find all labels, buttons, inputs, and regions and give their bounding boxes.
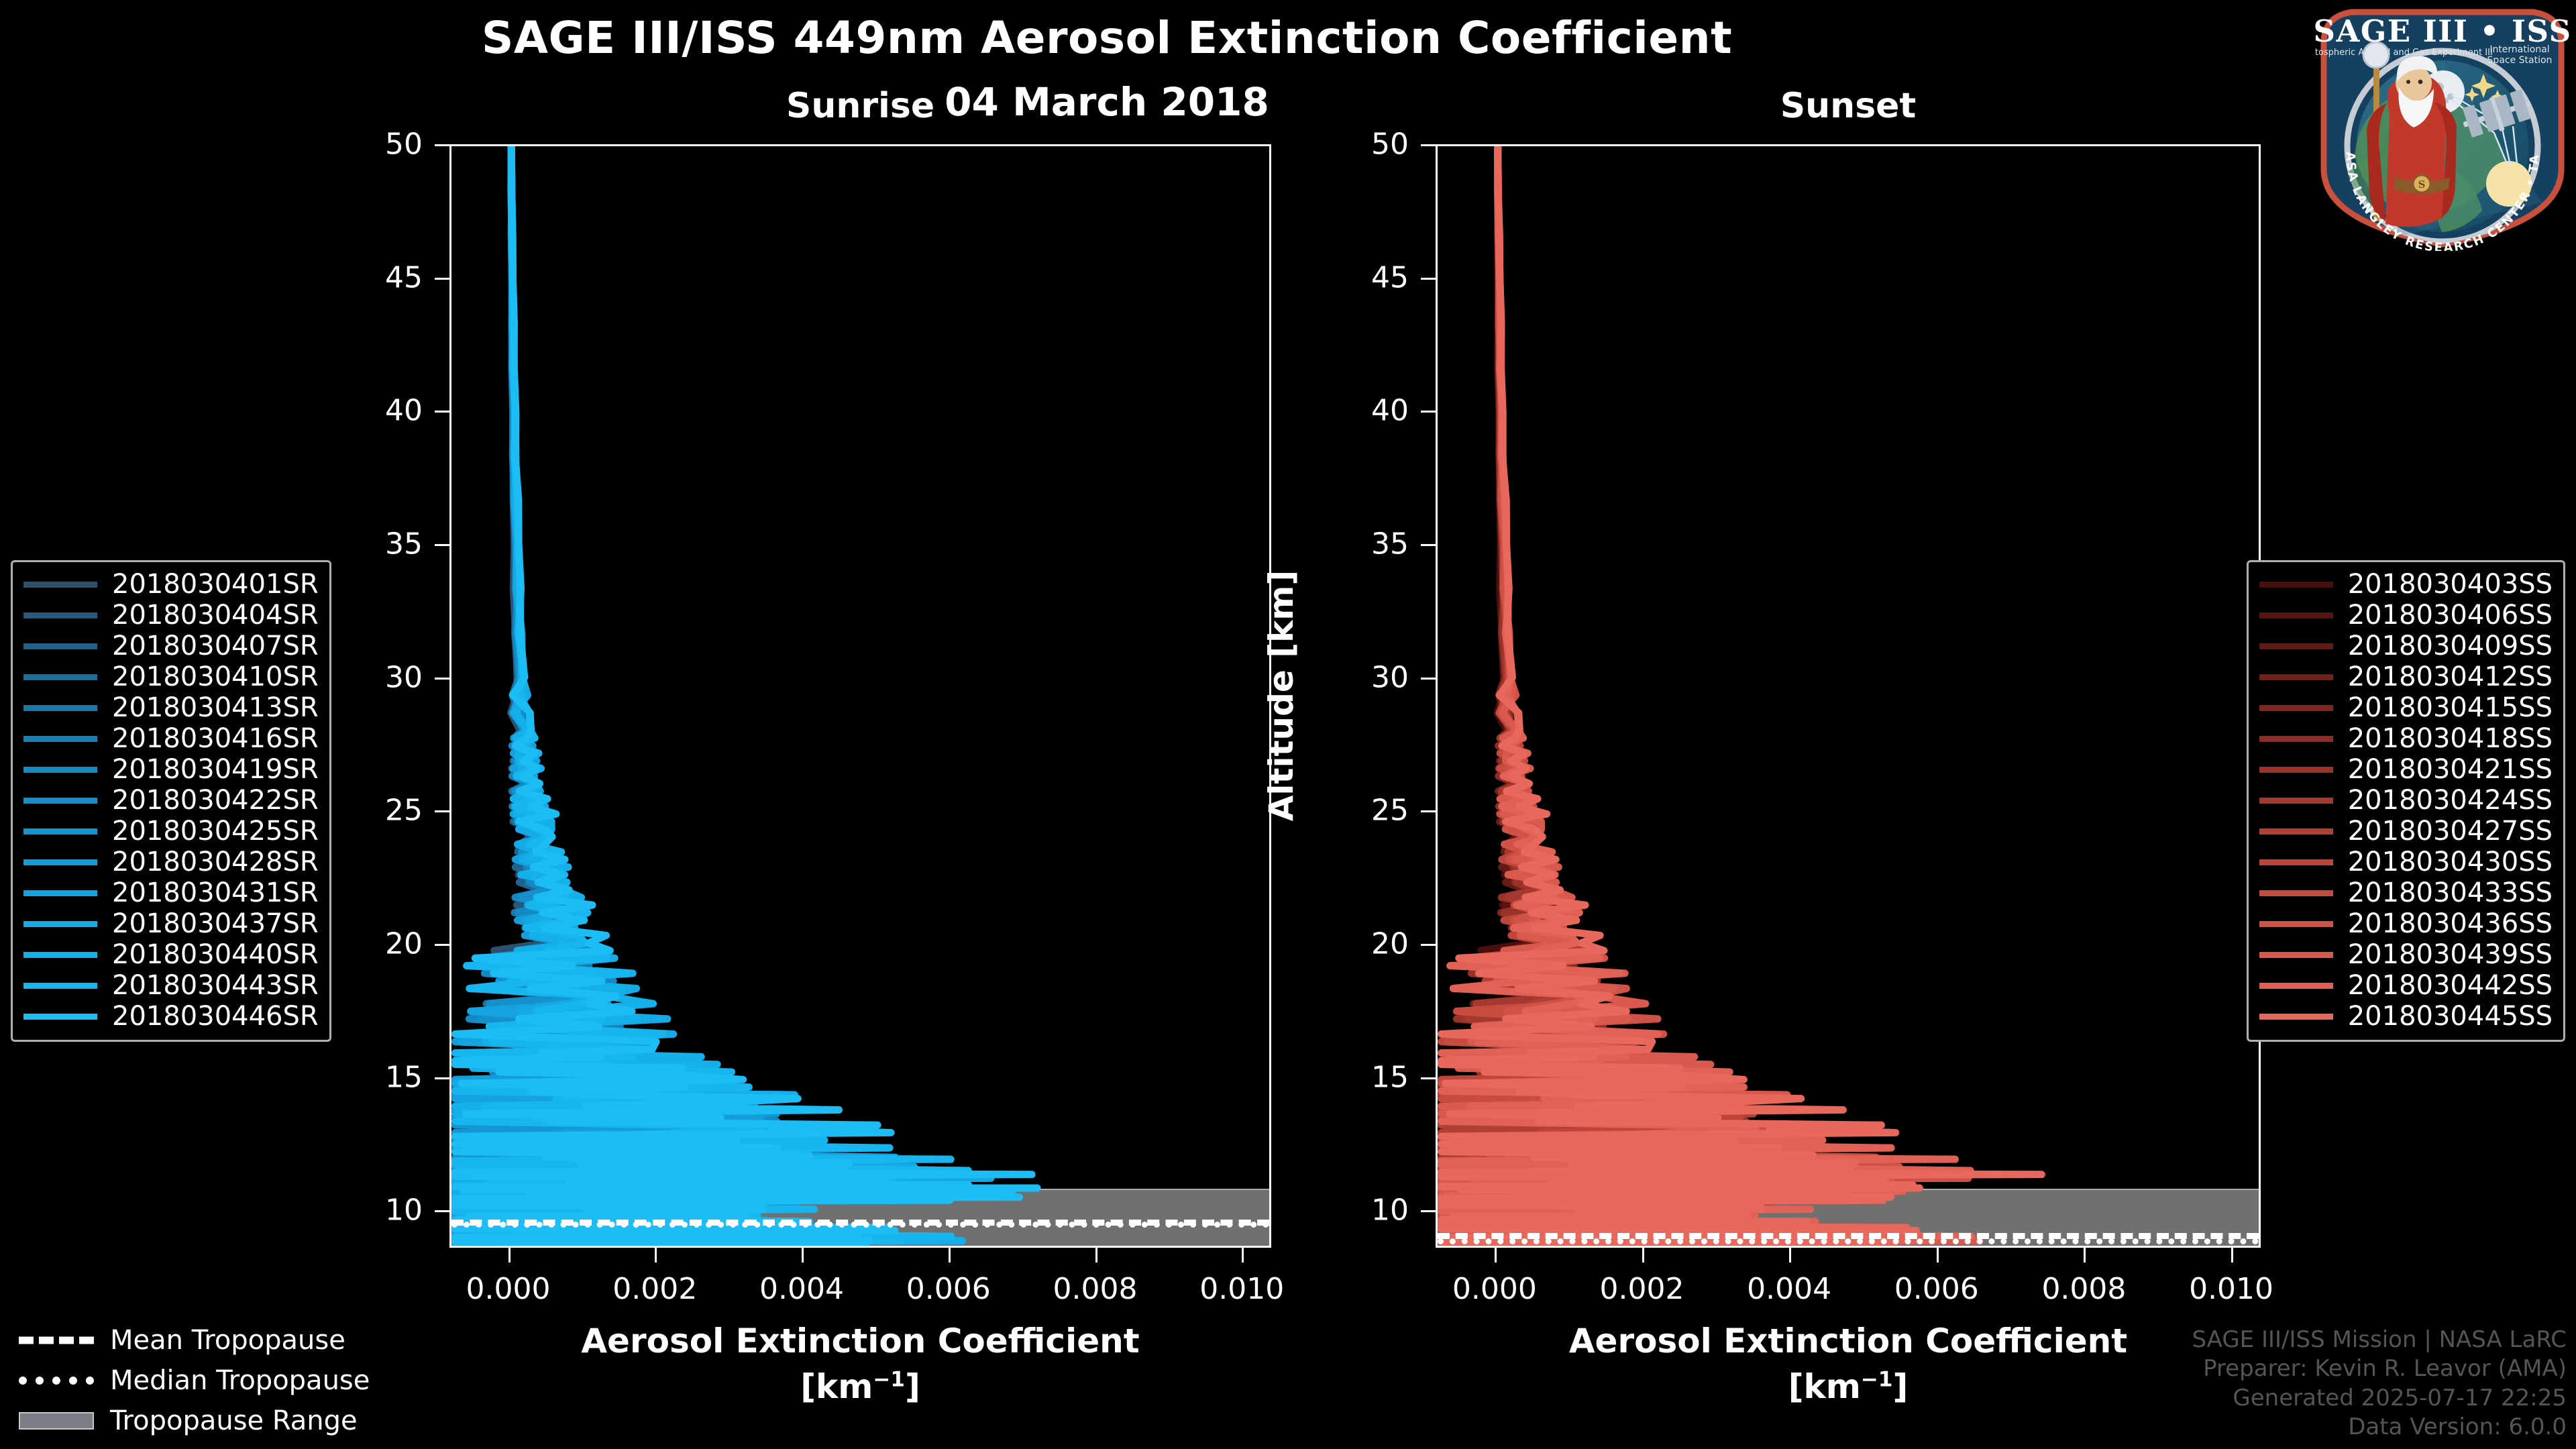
y-axis-tick — [435, 944, 449, 946]
extinction-profile-curves — [1438, 146, 2259, 1246]
legend-item[interactable]: 2018030445SS — [2259, 1001, 2553, 1032]
legend-item[interactable]: 2018030401SR — [23, 569, 319, 600]
y-axis-tick-label: 45 — [315, 260, 423, 294]
x-axis-tick-label: 0.010 — [1199, 1272, 1284, 1306]
y-axis-tick-label: 25 — [1301, 794, 1409, 828]
plot-area-sunrise — [449, 144, 1271, 1248]
legend-color-swatch — [23, 859, 97, 865]
x-axis-tick-label: 0.008 — [2041, 1272, 2126, 1306]
legend-item[interactable]: 2018030446SR — [23, 1001, 319, 1032]
legend-color-swatch — [23, 767, 97, 773]
legend-item-label: 2018030443SR — [112, 970, 319, 1001]
x-axis-tick-label: 0.000 — [466, 1272, 551, 1306]
y-axis-tick-label: 20 — [315, 927, 423, 961]
extinction-profile-curves — [451, 146, 1269, 1246]
legend-item-label: 2018030442SS — [2348, 970, 2553, 1001]
legend-item-label: 2018030404SR — [112, 600, 319, 631]
legend-item-median-tropopause: Median Tropopause — [19, 1360, 381, 1401]
legend-color-swatch — [2259, 828, 2333, 835]
x-axis-tick — [1095, 1248, 1097, 1263]
y-axis-tick — [435, 278, 449, 280]
legend-color-swatch — [23, 612, 97, 619]
legend-sunset[interactable]: 2018030403SS2018030406SS2018030409SS2018… — [2247, 560, 2565, 1042]
x-axis-tick — [2084, 1248, 2086, 1263]
legend-color-swatch — [2259, 736, 2333, 742]
x-axis-tick — [508, 1248, 511, 1263]
legend-label-mean-tropopause: Mean Tropopause — [110, 1325, 345, 1356]
legend-item[interactable]: 2018030412SS — [2259, 661, 2553, 692]
x-axis-tick-label: 0.004 — [759, 1272, 844, 1306]
x-axis-label: Aerosol Extinction Coefficient[km−1] — [1436, 1322, 2261, 1406]
x-axis-tick-label: 0.006 — [906, 1272, 991, 1306]
legend-color-swatch — [23, 828, 97, 835]
y-axis-tick-label: 15 — [315, 1060, 423, 1094]
legend-color-swatch — [23, 705, 97, 711]
svg-text:International: International — [2489, 44, 2549, 55]
x-axis-tick-label: 0.002 — [1600, 1272, 1684, 1306]
y-axis-tick-label: 45 — [1301, 260, 1409, 294]
legend-item-label: 2018030409SS — [2348, 631, 2553, 661]
y-axis-tick-label: 35 — [315, 527, 423, 561]
x-axis-tick — [1789, 1248, 1791, 1263]
legend-item[interactable]: 2018030439SS — [2259, 939, 2553, 970]
legend-sunrise[interactable]: 2018030401SR2018030404SR2018030407SR2018… — [11, 560, 331, 1042]
y-axis-tick — [435, 144, 449, 146]
legend-item-label: 2018030433SS — [2348, 877, 2553, 908]
legend-item-label: 2018030437SR — [112, 908, 319, 939]
legend-color-swatch — [23, 983, 97, 989]
y-axis-tick-label: 30 — [315, 660, 423, 694]
svg-text:S: S — [2418, 178, 2426, 191]
x-axis-label-text: Aerosol Extinction Coefficient — [1436, 1322, 2261, 1360]
mean-tropopause-line — [1438, 1233, 2259, 1239]
legend-item-label: 2018030413SR — [112, 692, 319, 723]
y-axis-tick — [435, 411, 449, 413]
legend-item[interactable]: 2018030416SR — [23, 723, 319, 754]
legend-item[interactable]: 2018030437SR — [23, 908, 319, 939]
legend-item[interactable]: 2018030428SR — [23, 847, 319, 877]
legend-color-swatch — [2259, 952, 2333, 958]
legend-item-label: 2018030403SS — [2348, 569, 2553, 600]
legend-item-label: 2018030401SR — [112, 569, 319, 600]
legend-item-mean-tropopause: Mean Tropopause — [19, 1320, 381, 1360]
sage-iii-iss-mission-logo: S SAGE III • ISS Stratospheric Aerosol a… — [2314, 1, 2571, 251]
x-axis-units: [km−1] — [1436, 1367, 2261, 1406]
legend-color-swatch — [23, 582, 97, 588]
y-axis-tick — [1421, 144, 1436, 146]
x-axis-tick — [949, 1248, 951, 1263]
x-axis-tick — [655, 1248, 657, 1263]
y-axis-label: Altitude [km] — [1262, 494, 1301, 897]
legend-color-swatch — [23, 890, 97, 896]
legend-item-label: 2018030439SS — [2348, 939, 2553, 970]
legend-color-swatch — [2259, 767, 2333, 773]
legend-item-label: 2018030446SR — [112, 1001, 319, 1032]
median-tropopause-line — [1438, 1238, 2259, 1244]
legend-item-label: 2018030418SS — [2348, 723, 2553, 754]
legend-color-swatch — [23, 952, 97, 958]
legend-color-swatch — [2259, 612, 2333, 619]
legend-color-swatch — [23, 1014, 97, 1020]
svg-text:Stratospheric Aerosol and Gas: Stratospheric Aerosol and Gas Experiment… — [2314, 48, 2493, 58]
x-axis-tick-label: 0.006 — [1894, 1272, 1979, 1306]
legend-item-label: 2018030427SS — [2348, 816, 2553, 847]
legend-color-swatch — [2259, 798, 2333, 804]
y-axis-tick-label: 35 — [1301, 527, 1409, 561]
y-axis-tick-label: 30 — [1301, 660, 1409, 694]
x-axis-tick — [1642, 1248, 1644, 1263]
y-axis-tick — [1421, 678, 1436, 680]
legend-color-swatch — [23, 643, 97, 649]
plot-area-sunset — [1436, 144, 2261, 1248]
legend-item-label: 2018030425SR — [112, 816, 319, 847]
legend-item[interactable]: 2018030427SS — [2259, 816, 2553, 847]
y-axis-tick — [435, 544, 449, 546]
legend-item[interactable]: 2018030425SR — [23, 816, 319, 847]
footer-line-preparer: Preparer: Kevin R. Leavor (AMA) — [2192, 1354, 2567, 1384]
y-axis-tick-label: 50 — [1301, 127, 1409, 162]
y-axis-tick-label: 20 — [1301, 927, 1409, 961]
x-axis-tick-label: 0.010 — [2189, 1272, 2273, 1306]
y-axis-tick — [1421, 810, 1436, 812]
legend-item-label: 2018030428SR — [112, 847, 319, 877]
x-axis-units: [km−1] — [449, 1367, 1271, 1406]
y-axis-tick — [1421, 944, 1436, 946]
legend-item-tropopause-range: Tropopause Range — [19, 1401, 381, 1441]
x-axis-tick — [1495, 1248, 1497, 1263]
legend-color-swatch — [2259, 859, 2333, 865]
y-axis-tick-label: 15 — [1301, 1060, 1409, 1094]
legend-item[interactable]: 2018030422SR — [23, 785, 319, 816]
legend-label-tropopause-range: Tropopause Range — [110, 1405, 358, 1436]
legend-item[interactable]: 2018030436SS — [2259, 908, 2553, 939]
page-title: SAGE III/ISS 449nm Aerosol Extinction Co… — [0, 12, 2214, 64]
legend-item[interactable]: 2018030419SR — [23, 754, 319, 785]
y-axis-tick — [1421, 1210, 1436, 1212]
footer-line-version: Data Version: 6.0.0 — [2192, 1413, 2567, 1442]
tropopause-legend: Mean Tropopause Median Tropopause Tropop… — [19, 1320, 381, 1441]
median-tropopause-line — [451, 1222, 1269, 1228]
y-axis-tick-label: 10 — [1301, 1193, 1409, 1228]
y-axis-tick-label: 10 — [315, 1193, 423, 1228]
legend-color-swatch — [23, 674, 97, 680]
legend-item[interactable]: 2018030406SS — [2259, 600, 2553, 631]
x-axis-tick-label: 0.002 — [612, 1272, 697, 1306]
x-axis-tick — [802, 1248, 804, 1263]
legend-item-label: 2018030416SR — [112, 723, 319, 754]
legend-item[interactable]: 2018030424SS — [2259, 785, 2553, 816]
legend-item[interactable]: 2018030418SS — [2259, 723, 2553, 754]
x-axis-label-text: Aerosol Extinction Coefficient — [449, 1322, 1271, 1360]
footer-line-generated: Generated 2025-07-17 22:25 — [2192, 1384, 2567, 1413]
legend-item-label: 2018030431SR — [112, 877, 319, 908]
legend-item-label: 2018030412SS — [2348, 661, 2553, 692]
legend-color-swatch — [2259, 921, 2333, 927]
legend-item-label: 2018030410SR — [112, 661, 319, 692]
legend-item-label: 2018030422SR — [112, 785, 319, 816]
legend-item[interactable]: 2018030433SS — [2259, 877, 2553, 908]
legend-item-label: 2018030440SR — [112, 939, 319, 970]
legend-item[interactable]: 2018030410SR — [23, 661, 319, 692]
legend-color-swatch — [23, 921, 97, 927]
y-axis-tick-label: 25 — [315, 794, 423, 828]
x-axis-tick — [1937, 1248, 1939, 1263]
y-axis-tick — [1421, 278, 1436, 280]
legend-item[interactable]: 2018030430SS — [2259, 847, 2553, 877]
legend-item[interactable]: 2018030409SS — [2259, 631, 2553, 661]
x-axis-label: Aerosol Extinction Coefficient[km−1] — [449, 1322, 1271, 1406]
y-axis-tick-label: 40 — [1301, 394, 1409, 428]
legend-item-label: 2018030424SS — [2348, 785, 2553, 816]
legend-item-label: 2018030419SR — [112, 754, 319, 785]
legend-item-label: 2018030415SS — [2348, 692, 2553, 723]
y-axis-tick — [435, 1210, 449, 1212]
y-axis-tick — [1421, 544, 1436, 546]
legend-color-swatch — [2259, 674, 2333, 680]
x-axis-tick-label: 0.004 — [1747, 1272, 1831, 1306]
panel-title-sunrise: Sunrise — [449, 86, 1271, 126]
panel-title-sunset: Sunset — [1436, 86, 2261, 126]
legend-color-swatch — [2259, 890, 2333, 896]
legend-label-median-tropopause: Median Tropopause — [110, 1365, 370, 1396]
x-axis-tick — [1242, 1248, 1244, 1263]
legend-color-swatch — [2259, 1014, 2333, 1020]
svg-text:Space Station: Space Station — [2487, 55, 2553, 66]
legend-color-swatch — [2259, 983, 2333, 989]
legend-item[interactable]: 2018030413SR — [23, 692, 319, 723]
y-axis-tick-label: 50 — [315, 127, 423, 162]
gray-swatch-icon — [19, 1412, 94, 1430]
legend-item[interactable]: 2018030407SR — [23, 631, 319, 661]
legend-color-swatch — [2259, 705, 2333, 711]
legend-item[interactable]: 2018030404SR — [23, 600, 319, 631]
legend-item[interactable]: 2018030443SR — [23, 970, 319, 1001]
legend-item-label: 2018030436SS — [2348, 908, 2553, 939]
legend-item-label: 2018030407SR — [112, 631, 319, 661]
x-axis-tick-label: 0.008 — [1053, 1272, 1138, 1306]
legend-color-swatch — [2259, 582, 2333, 588]
legend-color-swatch — [23, 798, 97, 804]
legend-color-swatch — [2259, 643, 2333, 649]
legend-item-label: 2018030430SS — [2348, 847, 2553, 877]
legend-item[interactable]: 2018030403SS — [2259, 569, 2553, 600]
legend-color-swatch — [23, 736, 97, 742]
legend-item[interactable]: 2018030415SS — [2259, 692, 2553, 723]
dashed-line-icon — [19, 1332, 94, 1349]
legend-item-label: 2018030421SS — [2348, 754, 2553, 785]
footer-line-mission: SAGE III/ISS Mission | NASA LaRC — [2192, 1326, 2567, 1355]
footer-credits: SAGE III/ISS Mission | NASA LaRC Prepare… — [2192, 1326, 2567, 1442]
legend-item[interactable]: 2018030440SR — [23, 939, 319, 970]
legend-item-label: 2018030445SS — [2348, 1001, 2553, 1032]
y-axis-tick — [435, 810, 449, 812]
legend-item[interactable]: 2018030431SR — [23, 877, 319, 908]
y-axis-tick — [435, 1077, 449, 1079]
y-axis-tick-label: 40 — [315, 394, 423, 428]
y-axis-tick — [1421, 1077, 1436, 1079]
y-axis-tick — [435, 678, 449, 680]
y-axis-tick — [1421, 411, 1436, 413]
x-axis-tick-label: 0.000 — [1452, 1272, 1537, 1306]
legend-item[interactable]: 2018030421SS — [2259, 754, 2553, 785]
x-axis-tick — [2231, 1248, 2233, 1263]
dotted-line-icon — [19, 1372, 94, 1389]
legend-item-label: 2018030406SS — [2348, 600, 2553, 631]
legend-item[interactable]: 2018030442SS — [2259, 970, 2553, 1001]
